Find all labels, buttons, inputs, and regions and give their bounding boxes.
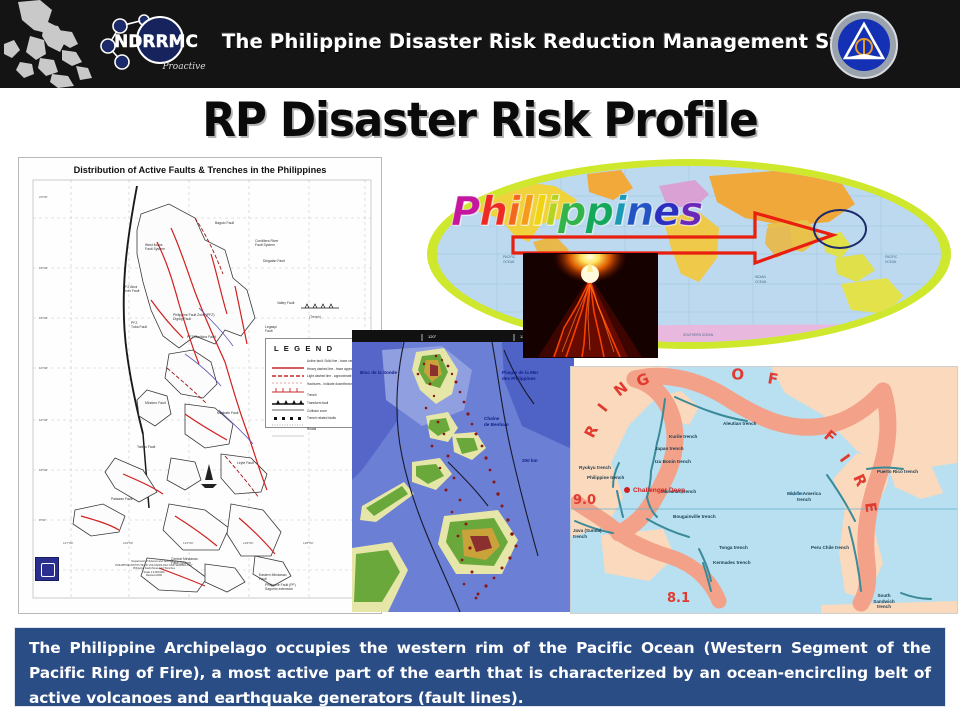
svg-text:River Fault: River Fault (123, 289, 139, 293)
svg-text:O: O (731, 367, 745, 384)
slide-root: NDRRMC Proactive The Philippine Disaster… (0, 0, 960, 720)
svg-text:117°00': 117°00' (63, 541, 74, 545)
ring-of-fire-map: R I N G O F F I R E Aleutian trench Kuri… (570, 366, 958, 614)
caption-box: The Philippine Archipelago occupies the … (14, 627, 946, 707)
trench-related-fault-icon (272, 415, 304, 421)
svg-text:PFZ Marikina Fault: PFZ Marikina Fault (187, 335, 216, 339)
label-java-sunda-trench: Java (Sunda) trench (573, 528, 609, 539)
svg-text:Palawan Fault: Palawan Fault (111, 497, 133, 501)
philippines-topographic-seismicity-map: 120°126° (352, 330, 574, 612)
legend-item-label: Roads (307, 427, 316, 431)
hachure-line-icon (272, 381, 304, 387)
erupting-volcano-photo (523, 253, 658, 358)
fault-map-title: Distribution of Active Faults & Trenches… (19, 165, 381, 175)
trench-symbol-icon (272, 392, 304, 398)
legend-item-label: Transform fault (307, 401, 328, 405)
world-location-map: PACIFICOCEAN ATLANTICOCEAN INDIANOCEAN P… (425, 157, 955, 352)
ndrrmc-tagline: Proactive (161, 62, 205, 72)
collision-zone-icon (272, 408, 304, 414)
topo-label-bloc-sonde: Bloc de la Sonde (360, 370, 397, 376)
svg-text:123°00': 123°00' (243, 541, 254, 545)
pointer-arrow-icon (425, 157, 955, 352)
label-izu-bonin-trench: Izu Bonin trench (655, 459, 691, 465)
svg-text:Fault: Fault (265, 329, 273, 333)
label-south-sandwich-trench: South Sandwich trench (867, 593, 901, 610)
legend-item-label: Collision zone (307, 409, 327, 413)
challenger-deep-marker: Challenger Deep (633, 487, 685, 494)
svg-text:119°00': 119°00' (123, 541, 134, 545)
label-aleutian-trench: Aleutian trench (723, 421, 756, 427)
svg-text:Dingalan Fault: Dingalan Fault (263, 259, 285, 263)
roads-icon (272, 426, 304, 432)
svg-text:Mindoro Fault: Mindoro Fault (145, 401, 166, 405)
svg-text:8°00': 8°00' (39, 518, 46, 522)
legend-item-label: Trench (307, 393, 317, 397)
ocd-seal-icon (828, 10, 900, 80)
svg-text:18°00': 18°00' (39, 266, 48, 270)
svg-text:12°00': 12°00' (39, 418, 48, 422)
ndrrmc-logo: NDRRMC Proactive (88, 12, 216, 78)
equator-label: Equator (789, 491, 804, 496)
heavy-dashed-line-icon (272, 366, 304, 372)
svg-text:Tablas Fault: Tablas Fault (137, 445, 155, 449)
credit-line: Revised 2000 (63, 574, 245, 577)
svg-text:Leyte Fault: Leyte Fault (237, 461, 254, 465)
svg-text:16°00': 16°00' (39, 316, 48, 320)
transform-fault-icon (272, 400, 304, 406)
topo-label-plaque-philippines: Plaque de la Mer des Philippines (502, 370, 538, 382)
topo-scale-label: 200 km (522, 458, 538, 464)
label-japan-trench: Japan trench (655, 446, 684, 452)
topo-label-chaine-benham: Chaîne de Benham (484, 416, 509, 428)
phivolcs-seal-icon (35, 557, 59, 581)
svg-text:Valley Fault: Valley Fault (277, 301, 295, 305)
philippines-wordart: Phillippines (451, 189, 702, 235)
fault-distribution-map: Baguio Fault Cordillera RiverFault Syste… (18, 157, 382, 614)
credit-lines: Department of Science and Technology PHI… (63, 560, 245, 577)
svg-text:125°00': 125°00' (303, 541, 314, 545)
page-title: RP Disaster Risk Profile (34, 92, 927, 150)
svg-text:121°00': 121°00' (183, 541, 194, 545)
magnitude-9-marker: 9.0 (573, 493, 596, 508)
caption-text: The Philippine Archipelago occupies the … (29, 636, 931, 711)
svg-text:Fault System: Fault System (255, 243, 275, 247)
svg-text:Tuba Fault: Tuba Fault (131, 325, 147, 329)
legend-item-label: Active fault: Solid line - trace certain (307, 359, 358, 363)
label-kermadec-trench: Kermadec trench (713, 560, 751, 566)
philippines-highlight-circle (813, 209, 867, 249)
label-puerto-rico-trench: Puerto Rico trench (877, 469, 918, 475)
svg-text:20°00': 20°00' (39, 195, 48, 199)
label-bougainville-trench: Bougainville trench (673, 514, 716, 520)
legend-title: L E G E N D (274, 344, 334, 353)
ndrrmc-logo-text: NDRRMC (114, 32, 198, 52)
label-kurile-trench: Kurile trench (669, 434, 697, 440)
svg-text:Sagunto extension: Sagunto extension (265, 587, 293, 591)
label-ryukyu-trench: Ryukyu trench (579, 465, 611, 471)
label-tonga-trench: Tonga trench (719, 545, 748, 551)
svg-text:Digdig Fault: Digdig Fault (173, 317, 191, 321)
solid-red-line-icon (272, 358, 304, 364)
label-philippine-trench: Philippine trench (587, 475, 627, 481)
header-banner: NDRRMC Proactive The Philippine Disaster… (0, 0, 960, 88)
svg-text:Baguio Fault: Baguio Fault (215, 221, 234, 225)
phivolcs-credit: Department of Science and Technology PHI… (35, 554, 245, 584)
banner-title: The Philippine Disaster Risk Reduction M… (222, 30, 812, 53)
svg-text:Fault: Fault (259, 577, 267, 581)
svg-text:10°00': 10°00' (39, 468, 48, 472)
label-peru-chile-trench: Peru Chile trench (811, 545, 849, 551)
light-dashed-line-icon (272, 373, 304, 379)
svg-text:Masbate Fault: Masbate Fault (217, 411, 239, 415)
legend-item-label: Trench related faults (307, 416, 336, 420)
magnitude-81-marker: 8.1 (667, 591, 690, 606)
svg-text:Fault System: Fault System (145, 247, 165, 251)
svg-text:(Trench): (Trench) (309, 315, 321, 319)
svg-text:14°00': 14°00' (39, 366, 48, 370)
